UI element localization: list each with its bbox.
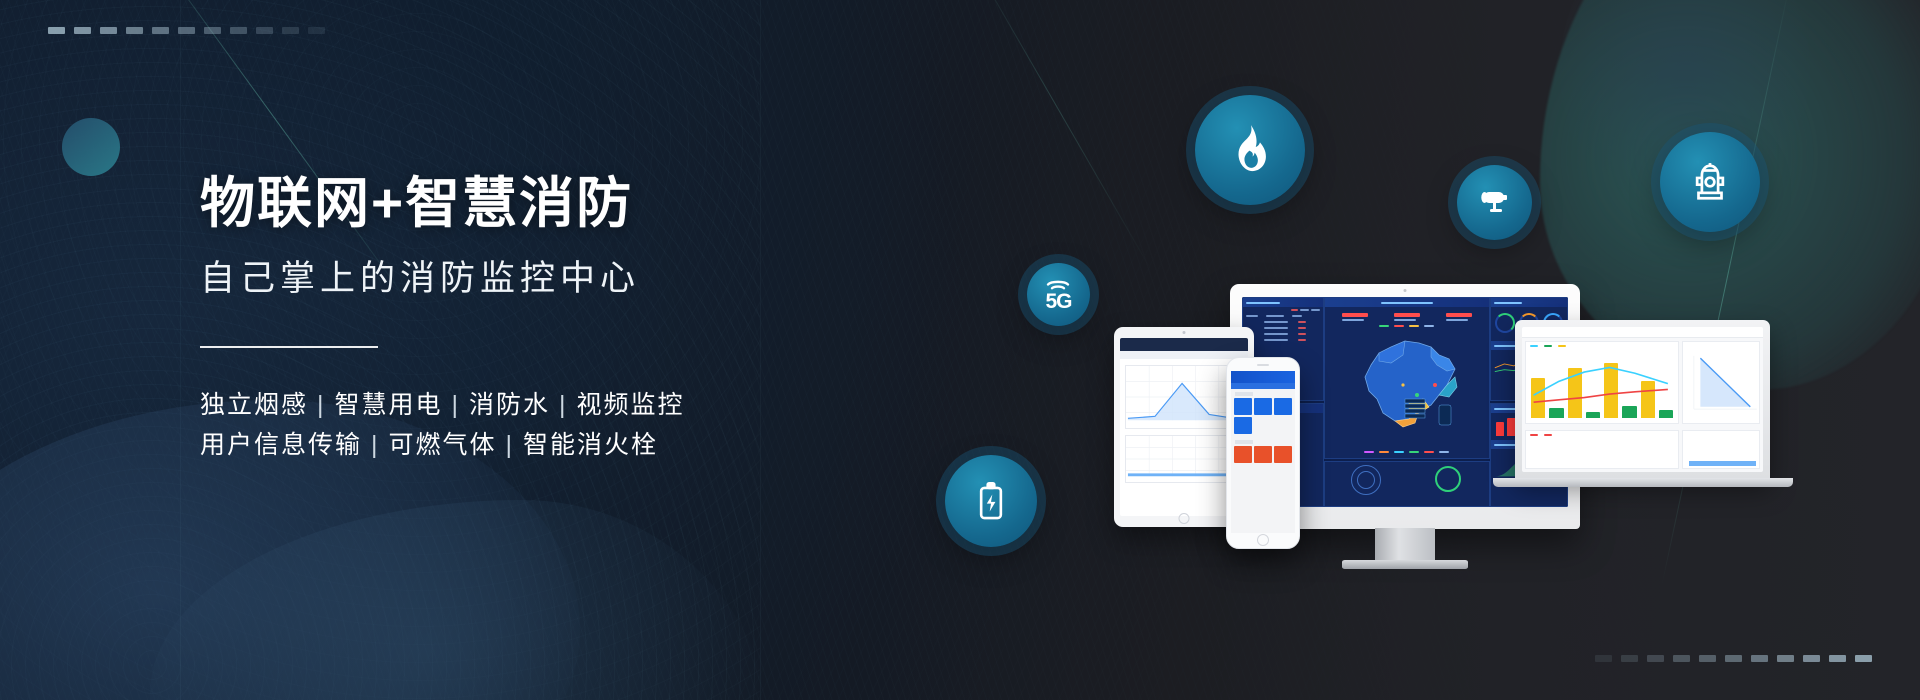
- feature-item: 消防水: [469, 391, 550, 419]
- tablet-toolbar: [1120, 351, 1248, 359]
- decor-dash: [126, 27, 143, 34]
- china-map-chart: [1343, 325, 1471, 437]
- decor-dash: [1829, 655, 1846, 662]
- feature-item: 智慧用电: [335, 391, 443, 419]
- monitor-stand-foot: [1342, 560, 1468, 569]
- decor-dash: [204, 27, 221, 34]
- dashboard-kpi-row: [1325, 307, 1489, 323]
- tablet-camera-dot: [1183, 331, 1186, 334]
- phone-tile[interactable]: [1274, 398, 1292, 415]
- decor-dash: [178, 27, 195, 34]
- decor-dash: [1699, 655, 1716, 662]
- laptop-dashboard-body: [1522, 338, 1763, 427]
- phone-tile[interactable]: [1234, 417, 1252, 434]
- phone-screen: [1231, 371, 1295, 533]
- phone-section-label-1: [1235, 392, 1253, 396]
- decor-dash: [1751, 655, 1768, 662]
- decorative-vline-1: [180, 0, 181, 700]
- battery-bolt-icon-bubble[interactable]: [945, 455, 1037, 547]
- laptop-lid: [1515, 320, 1770, 478]
- laptop-bar-small-card: [1682, 430, 1760, 469]
- decor-dash: [308, 27, 325, 34]
- 5g-label: 5G: [1045, 291, 1071, 312]
- decorative-glow-circle: [62, 118, 120, 176]
- decor-dashes-bottom-right: [1595, 655, 1872, 662]
- feature-item: 可燃气体: [389, 431, 497, 459]
- decor-dash: [100, 27, 117, 34]
- phone-tile[interactable]: [1254, 398, 1272, 415]
- divider-rule: [200, 346, 378, 348]
- phone-tile[interactable]: [1234, 398, 1252, 415]
- feature-line-1: 独立烟感|智慧用电|消防水|视频监控: [200, 386, 960, 426]
- 5g-signal-icon: 5G: [1045, 278, 1071, 312]
- fire-hydrant-icon-bubble[interactable]: [1660, 132, 1760, 232]
- phone-tile[interactable]: [1254, 446, 1272, 463]
- tablet-home-button[interactable]: [1179, 513, 1190, 524]
- feature-item: 智能消火栓: [523, 431, 658, 459]
- laptop-area-chart: [1683, 342, 1759, 423]
- feature-item: 独立烟感: [200, 391, 308, 419]
- decor-dash: [152, 27, 169, 34]
- battery-bolt-icon: [975, 480, 1007, 522]
- phone-section-label-2: [1235, 440, 1253, 444]
- phone-tile[interactable]: [1234, 446, 1252, 463]
- laptop-toolbar: [1522, 327, 1763, 338]
- phone-speaker: [1257, 364, 1269, 366]
- decor-dash: [1777, 655, 1794, 662]
- cctv-camera-icon: [1478, 188, 1512, 218]
- decor-dash: [282, 27, 299, 34]
- device-cluster: [1120, 285, 1880, 585]
- laptop-grid-chart-card: [1525, 430, 1679, 469]
- decor-dash: [1803, 655, 1820, 662]
- 5g-signal-icon-bubble[interactable]: 5G: [1027, 263, 1090, 326]
- phone-tab-bar: [1231, 383, 1295, 389]
- kpi-item: [1342, 313, 1368, 321]
- decor-dash: [1595, 655, 1612, 662]
- smartphone-device[interactable]: [1226, 357, 1300, 549]
- decor-dash: [48, 27, 65, 34]
- banner-copy: 物联网+智慧消防 自己掌上的消防监控中心 独立烟感|智慧用电|消防水|视频监控 …: [200, 170, 960, 465]
- decor-dash: [256, 27, 273, 34]
- tablet-flat-chart: [1126, 436, 1242, 482]
- dashboard-center-column: [1324, 297, 1490, 507]
- laptop-line-overlay: [1526, 342, 1678, 423]
- page-title: 物联网+智慧消防: [200, 170, 960, 236]
- phone-tile[interactable]: [1274, 446, 1292, 463]
- flame-icon-bubble[interactable]: [1195, 95, 1305, 205]
- laptop-decline-chart-card: [1682, 341, 1760, 424]
- feature-line-2: 用户信息传输|可燃气体|智能消火栓: [200, 426, 960, 466]
- feature-separator: |: [550, 391, 577, 419]
- kpi-item: [1394, 313, 1420, 321]
- decor-dashes-top-left: [48, 27, 325, 34]
- panel-header: [1491, 298, 1567, 307]
- gauge-chart: [1495, 313, 1515, 333]
- page-subtitle: 自己掌上的消防监控中心: [200, 250, 960, 301]
- feature-separator: |: [497, 431, 524, 459]
- phone-tile-grid-blue: [1231, 398, 1295, 434]
- decor-dash: [1673, 655, 1690, 662]
- laptop-device[interactable]: [1515, 320, 1770, 495]
- chart-legend: [1526, 431, 1678, 439]
- fire-hydrant-icon: [1689, 159, 1731, 205]
- decor-dash: [74, 27, 91, 34]
- monitor-camera-dot: [1404, 289, 1407, 292]
- dashboard-radar-panel: [1324, 461, 1490, 507]
- map-footer-legend: [1325, 449, 1489, 455]
- laptop-combo-chart-card: [1525, 341, 1679, 424]
- monitor-stand-neck: [1375, 528, 1435, 564]
- radar-chart: [1325, 462, 1407, 506]
- dashboard-map-panel: [1324, 297, 1490, 459]
- feature-item: 用户信息传输: [200, 431, 362, 459]
- cctv-camera-icon-bubble[interactable]: [1457, 165, 1532, 240]
- phone-tile-grid-orange: [1231, 446, 1295, 463]
- feature-separator: |: [308, 391, 335, 419]
- hero-banner: 物联网+智慧消防 自己掌上的消防监控中心 独立烟感|智慧用电|消防水|视频监控 …: [0, 0, 1920, 700]
- tablet-nav-bar: [1120, 338, 1248, 351]
- feature-separator: |: [443, 391, 470, 419]
- kpi-item: [1446, 313, 1472, 321]
- feature-separator: |: [362, 431, 389, 459]
- decor-dash: [1647, 655, 1664, 662]
- phone-app-header: [1231, 371, 1295, 383]
- laptop-dashboard-body-2: [1522, 427, 1763, 472]
- laptop-base: [1493, 478, 1793, 487]
- decor-dash: [1621, 655, 1638, 662]
- feature-item: 视频监控: [577, 391, 685, 419]
- panel-header: [1325, 298, 1489, 307]
- decor-dash: [230, 27, 247, 34]
- feature-list: 独立烟感|智慧用电|消防水|视频监控 用户信息传输|可燃气体|智能消火栓: [200, 386, 960, 465]
- panel-header: [1243, 298, 1323, 307]
- ring-chart: [1407, 462, 1489, 506]
- decor-dash: [1855, 655, 1872, 662]
- laptop-screen: [1522, 327, 1763, 472]
- flame-icon: [1227, 124, 1273, 176]
- decor-dash: [1725, 655, 1742, 662]
- tablet-area-chart: [1126, 366, 1242, 428]
- phone-home-button[interactable]: [1257, 534, 1269, 546]
